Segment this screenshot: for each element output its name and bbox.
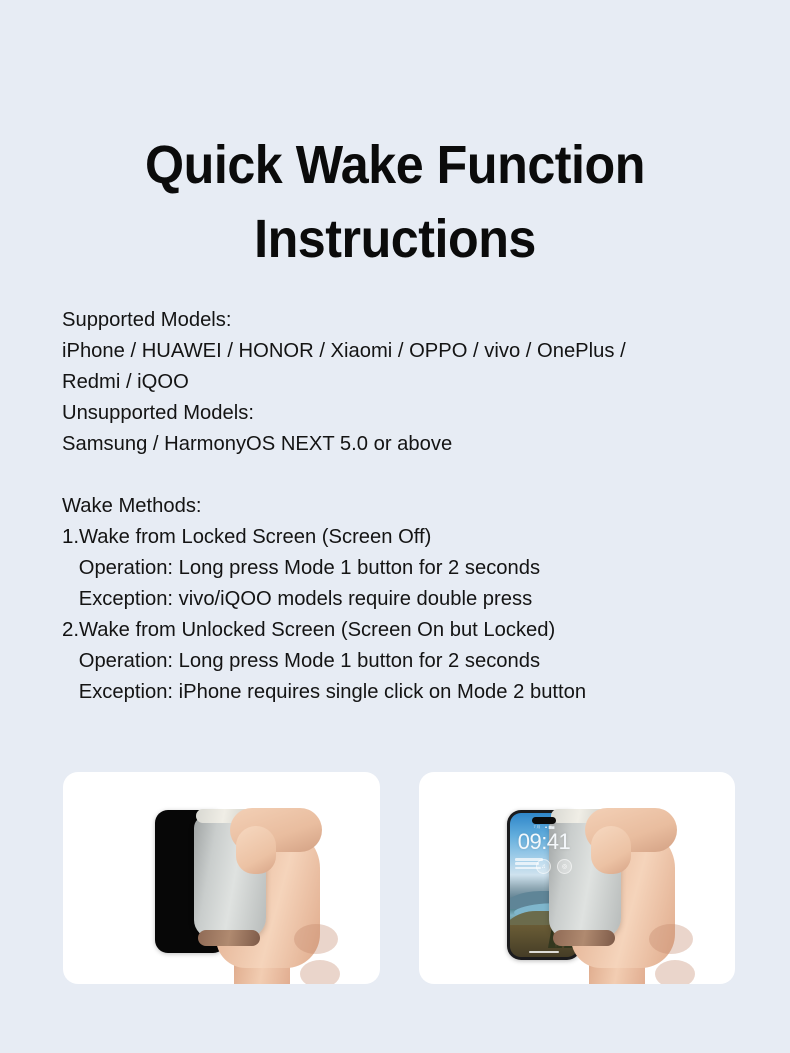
dynamic-island bbox=[532, 817, 556, 824]
page-title: Quick Wake Function Instructions bbox=[0, 128, 790, 276]
paragraph-spacer bbox=[62, 459, 762, 490]
wake-method-2-operation: Operation: Long press Mode 1 button for … bbox=[62, 645, 752, 676]
hand-holding-device-left bbox=[194, 772, 344, 984]
wake-method-1-exception: Exception: vivo/iQOO models require doub… bbox=[62, 583, 752, 614]
photo-card-lock-screen: 7 月 ▲ ▆▅ 09:41 ♫ ◎ bbox=[419, 772, 735, 984]
wake-method-2-number: 2. bbox=[62, 614, 79, 645]
device-base bbox=[198, 930, 260, 946]
wake-methods-heading: Wake Methods: bbox=[62, 490, 752, 521]
knuckle-upper bbox=[294, 924, 338, 954]
notification-line bbox=[515, 862, 539, 865]
photo-card-screen-off-clip bbox=[63, 772, 380, 984]
knuckle-upper bbox=[649, 924, 693, 954]
home-indicator bbox=[529, 951, 559, 953]
control-right-icon: ◎ bbox=[557, 859, 572, 874]
wake-method-2-title-text: Wake from Unlocked Screen (Screen On but… bbox=[79, 614, 555, 645]
lock-screen-clock: 09:41 bbox=[510, 830, 578, 854]
fingertip bbox=[236, 826, 276, 874]
unsupported-models-heading: Unsupported Models: bbox=[62, 397, 752, 428]
wake-method-1-number: 1. bbox=[62, 521, 79, 552]
supported-models-line-2: Redmi / iQOO bbox=[62, 366, 752, 397]
fingertip bbox=[591, 826, 631, 874]
device-base bbox=[553, 930, 615, 946]
photo-card-screen-off bbox=[63, 772, 380, 984]
unsupported-models-line-1: Samsung / HarmonyOS NEXT 5.0 or above bbox=[62, 428, 752, 459]
supported-models-line-1: iPhone / HUAWEI / HONOR / Xiaomi / OPPO … bbox=[62, 335, 752, 366]
wake-method-1-title-text: Wake from Locked Screen (Screen Off) bbox=[79, 521, 431, 552]
supported-models-heading: Supported Models: bbox=[62, 304, 752, 335]
wake-method-1-title: 1. Wake from Locked Screen (Screen Off) bbox=[62, 521, 762, 552]
wake-method-1-operation: Operation: Long press Mode 1 button for … bbox=[62, 552, 752, 583]
page-title-line-1: Quick Wake Function bbox=[28, 128, 763, 202]
instruction-page: Quick Wake Function Instructions Support… bbox=[0, 0, 790, 1053]
instructions-body: Supported Models: iPhone / HUAWEI / HONO… bbox=[62, 304, 762, 707]
knuckle-lower bbox=[655, 960, 695, 984]
knuckle-lower bbox=[300, 960, 340, 984]
page-title-line-2: Instructions bbox=[28, 202, 763, 276]
photo-card-row: 7 月 ▲ ▆▅ 09:41 ♫ ◎ bbox=[0, 772, 790, 984]
photo-card-lock-screen-clip: 7 月 ▲ ▆▅ 09:41 ♫ ◎ bbox=[419, 772, 735, 984]
lock-screen-controls: ♫ ◎ bbox=[536, 859, 572, 874]
wake-method-2-exception: Exception: iPhone requires single click … bbox=[62, 676, 752, 707]
control-left-icon: ♫ bbox=[536, 859, 551, 874]
wake-method-2-title: 2. Wake from Unlocked Screen (Screen On … bbox=[62, 614, 762, 645]
hand-holding-device-right bbox=[549, 772, 699, 984]
